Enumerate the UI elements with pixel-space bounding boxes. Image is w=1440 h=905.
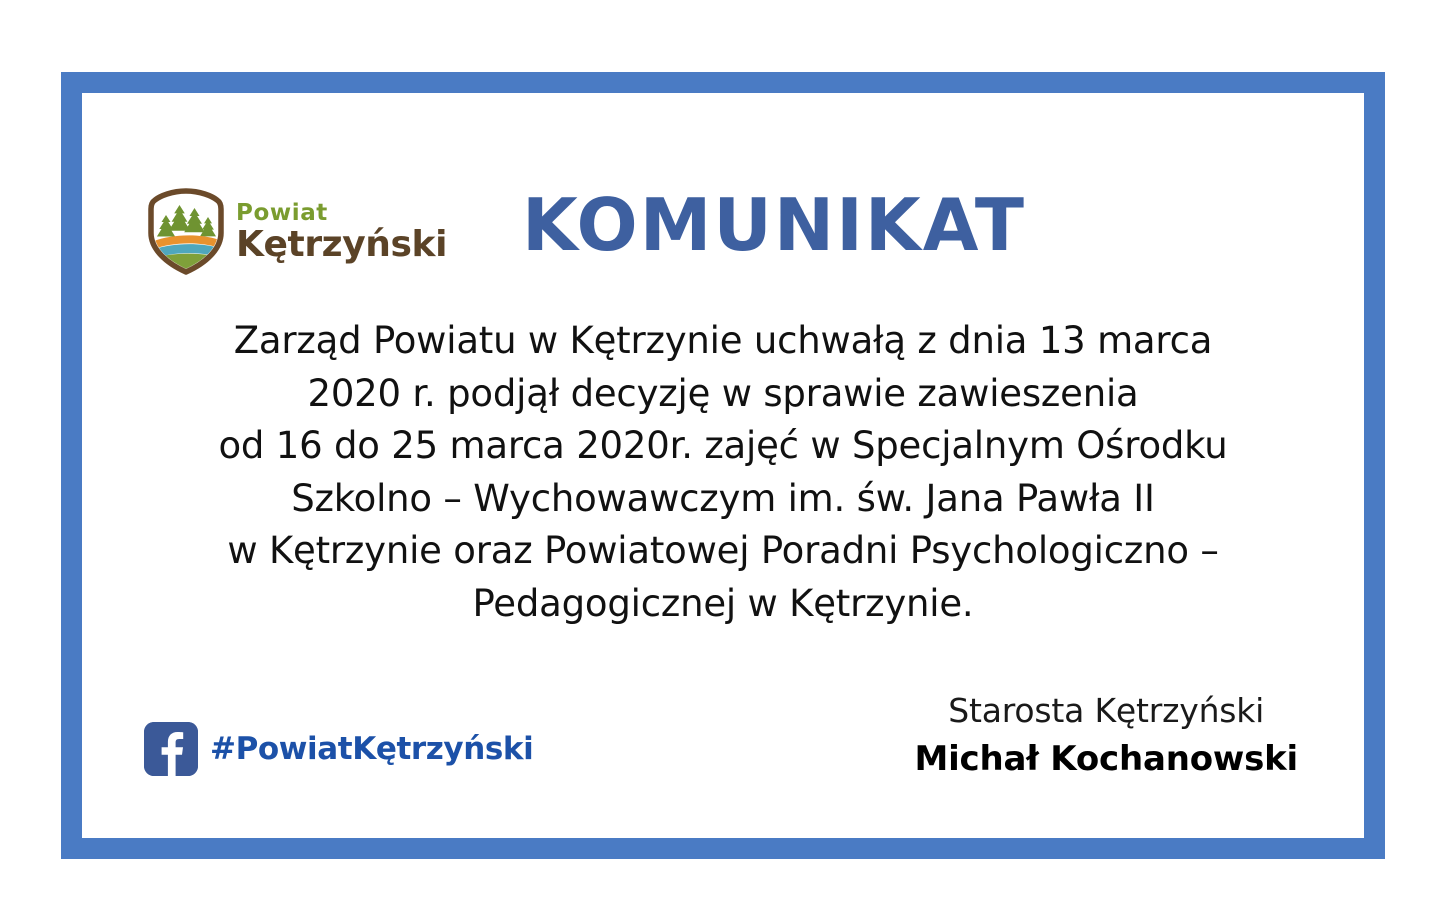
poster-inner-area: Powiat Kętrzyński KOMUNIKAT Zarząd Powia… xyxy=(82,93,1364,838)
announcement-line: od 16 do 25 marca 2020r. zajęć w Specjal… xyxy=(122,420,1324,473)
poster-header: Powiat Kętrzyński KOMUNIKAT xyxy=(82,133,1364,253)
county-logo-wordmark: Powiat Kętrzyński xyxy=(236,200,447,263)
page-title: KOMUNIKAT xyxy=(522,189,1026,261)
logo-word-ketrzynski: Kętrzyński xyxy=(236,227,447,263)
facebook-hashtag[interactable]: #PowiatKętrzyński xyxy=(210,731,533,767)
announcement-line: Pedagogicznej w Kętrzynie. xyxy=(122,578,1324,631)
signature-name: Michał Kochanowski xyxy=(914,738,1298,782)
announcement-line: Szkolno – Wychowawczym im. św. Jana Pawł… xyxy=(122,473,1324,526)
poster-footer: #PowiatKętrzyński Starosta Kętrzyński Mi… xyxy=(82,676,1364,786)
social-link[interactable]: #PowiatKętrzyński xyxy=(144,722,533,776)
announcement-poster: Powiat Kętrzyński KOMUNIKAT Zarząd Powia… xyxy=(0,0,1440,905)
logo-word-powiat: Powiat xyxy=(236,202,447,225)
facebook-icon[interactable] xyxy=(144,722,198,776)
announcement-line: Zarząd Powiatu w Kętrzynie uchwałą z dni… xyxy=(122,315,1324,368)
announcement-line: w Kętrzynie oraz Powiatowej Poradni Psyc… xyxy=(122,525,1324,578)
announcement-line: 2020 r. podjął decyzję w sprawie zawiesz… xyxy=(122,368,1324,421)
county-logo: Powiat Kętrzyński xyxy=(146,187,447,275)
signature-role: Starosta Kętrzyński xyxy=(914,690,1298,732)
announcement-body: Zarząd Powiatu w Kętrzynie uchwałą z dni… xyxy=(122,315,1324,630)
poster-blue-frame: Powiat Kętrzyński KOMUNIKAT Zarząd Powia… xyxy=(61,72,1385,859)
signature-block: Starosta Kętrzyński Michał Kochanowski xyxy=(914,690,1298,782)
powiat-ketrzynski-shield-logo-icon xyxy=(146,187,226,275)
